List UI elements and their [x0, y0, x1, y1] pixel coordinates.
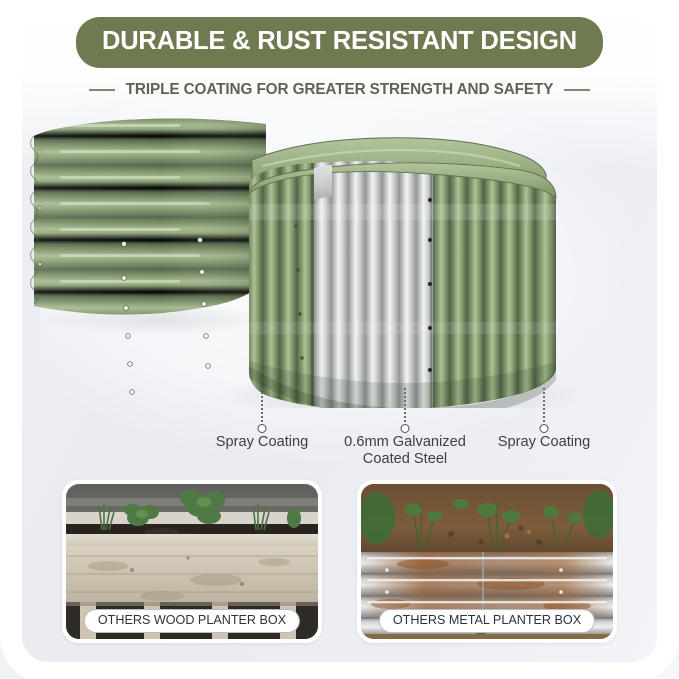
dash-left-icon: [89, 89, 115, 91]
wood-planter-photo: OTHERS WOOD PLANTER BOX: [66, 484, 318, 639]
product-green-sheet: [20, 108, 280, 394]
infographic-page: DURABLE & RUST RESISTANT DESIGN TRIPLE C…: [0, 0, 679, 679]
product-drum: [240, 148, 570, 408]
comparison-section: OTHERS WOOD PLANTER BOX: [0, 480, 679, 650]
dash-right-icon: [564, 89, 590, 91]
metal-planter-photo: OTHERS METAL PLANTER BOX: [361, 484, 613, 639]
panel-tag-metal: OTHERS METAL PLANTER BOX: [379, 609, 595, 633]
circle-marker-icon: [401, 424, 410, 433]
circle-marker-icon: [540, 424, 549, 433]
callout-label: Spray Coating: [216, 434, 308, 451]
page-subtitle: TRIPLE COATING FOR GREATER STRENGTH AND …: [126, 81, 554, 99]
callout-label: Spray Coating: [498, 434, 590, 451]
subtitle-row: TRIPLE COATING FOR GREATER STRENGTH AND …: [0, 81, 679, 99]
circle-marker-icon: [258, 424, 267, 433]
header: DURABLE & RUST RESISTANT DESIGN TRIPLE C…: [0, 17, 679, 99]
callout-label: 0.6mm Galvanized Coated Steel: [330, 434, 480, 467]
product-hero-image: [0, 108, 679, 408]
panel-tag-wood: OTHERS WOOD PLANTER BOX: [84, 609, 300, 633]
page-title: DURABLE & RUST RESISTANT DESIGN: [76, 17, 603, 68]
dotted-leader-line-icon: [261, 388, 263, 422]
comparison-panel-wood: OTHERS WOOD PLANTER BOX: [62, 480, 322, 643]
dotted-leader-line-icon: [404, 388, 406, 422]
comparison-panel-metal: OTHERS METAL PLANTER BOX: [357, 480, 617, 643]
dotted-leader-line-icon: [543, 388, 545, 422]
